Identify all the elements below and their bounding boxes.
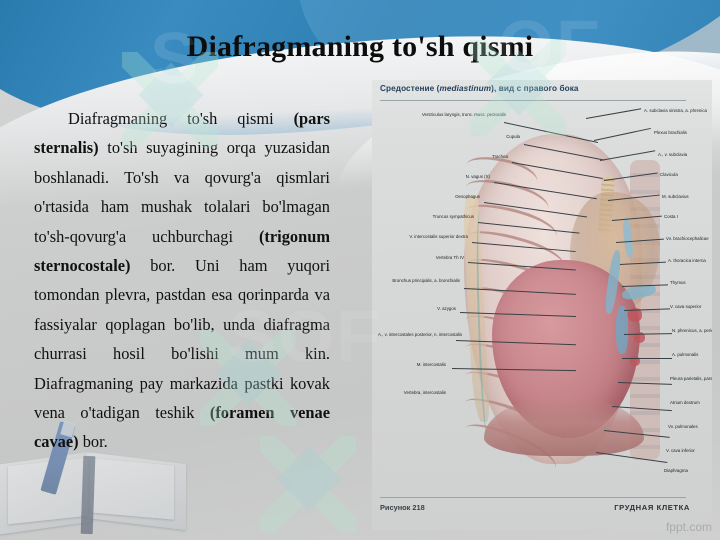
body-text-part-4: bor. <box>79 432 108 451</box>
mediastinum-illustration: Ventriculus laryngis, trunc. musc. pecto… <box>372 100 712 492</box>
anatomy-label-left-9: V. azygos <box>404 306 456 311</box>
anatomy-label-right-0: A. subclavia sinistra, a. phrenica <box>644 108 708 113</box>
body-text-part-1: Diafragmaning to'sh qismi <box>68 109 294 128</box>
fppt-watermark: fppt.com <box>666 520 712 534</box>
anatomy-label-left-11: M. intercostalis <box>380 362 446 367</box>
anatomy-label-right-14: Vv. pulmonales <box>668 424 712 429</box>
anatomy-label-left-4: Oesophagus <box>408 194 480 199</box>
anatomy-label-left-1: Cupula <box>432 134 520 139</box>
anatomy-label-right-13: Atrium dextrum <box>670 400 712 405</box>
anatomy-label-right-12: Pleura parietalis, pars mediastinalis <box>670 376 712 381</box>
figure-number: Рисунок 218 <box>380 503 425 512</box>
figure-caption-latin: mediastinum <box>440 84 492 93</box>
figure-caption-prefix: Средостение ( <box>380 84 440 93</box>
anatomy-label-left-6: V. intercostalis superior dextra <box>376 234 468 239</box>
vena-cava-inferior <box>616 306 628 354</box>
anatomy-label-right-7: A. thoracica interna <box>668 258 712 263</box>
anatomy-label-right-9: V. cava superior <box>670 304 712 309</box>
anatomy-label-right-2: A., v. subclavia <box>658 152 712 157</box>
anatomy-label-left-8: Bronchus principalis, a. bronchialis <box>386 278 460 283</box>
figure-caption-suffix: ), вид с правого бока <box>491 84 578 93</box>
anatomy-label-right-16: Diaphragma <box>664 468 712 473</box>
body-text-part-3: bor. Uni ham yuqori tomondan plevra, pas… <box>34 256 330 422</box>
anatomy-label-left-12: Vertebra, intercostalis <box>376 390 446 395</box>
figure-section-label: ГРУДНАЯ КЛЕТКА <box>614 503 690 512</box>
anatomy-label-right-4: M. subclavius <box>662 194 712 199</box>
anatomy-label-right-11: A. pulmonalis <box>672 352 712 357</box>
anatomy-label-right-1: Plexus brachialis <box>654 130 712 135</box>
body-paragraph: Diafragmaning to'sh qismi (pars sternali… <box>34 104 330 457</box>
figure-bottom-rule <box>380 497 686 498</box>
anatomy-label-left-10: A., v. intercostales posterior, n. inter… <box>378 332 452 337</box>
anatomy-label-right-3: Clavicula <box>660 172 712 177</box>
anatomy-label-left-7: Vertebra Th IV <box>400 255 464 260</box>
anatomy-label-right-10: N. phrenicus, a. pericardiacophrenica <box>672 328 712 333</box>
anatomy-label-right-8: Thymus <box>670 280 712 285</box>
anatomy-label-left-2: Trachea <box>428 154 508 159</box>
anatomy-label-left-5: Truncus sympathicus <box>394 214 474 219</box>
figure-caption: Средостение (mediastinum), вид с правого… <box>380 84 579 93</box>
anatomy-figure-panel: Средостение (mediastinum), вид с правого… <box>372 80 712 530</box>
anatomy-label-right-6: Vv. brachiocephalicae <box>666 236 712 241</box>
presentation-slide: Diafragmaning to'sh qismi Diafragmaning … <box>0 0 720 540</box>
anatomy-label-left-3: N. vagus (X) <box>416 174 490 179</box>
anatomy-label-left-0: Ventriculus laryngis, trunc. musc. pecto… <box>396 112 506 117</box>
page-title: Diafragmaning to'sh qismi <box>0 30 720 64</box>
anatomy-label-right-5: Costa I <box>664 214 712 219</box>
anatomy-label-right-15: V. cava inferior <box>666 448 712 453</box>
